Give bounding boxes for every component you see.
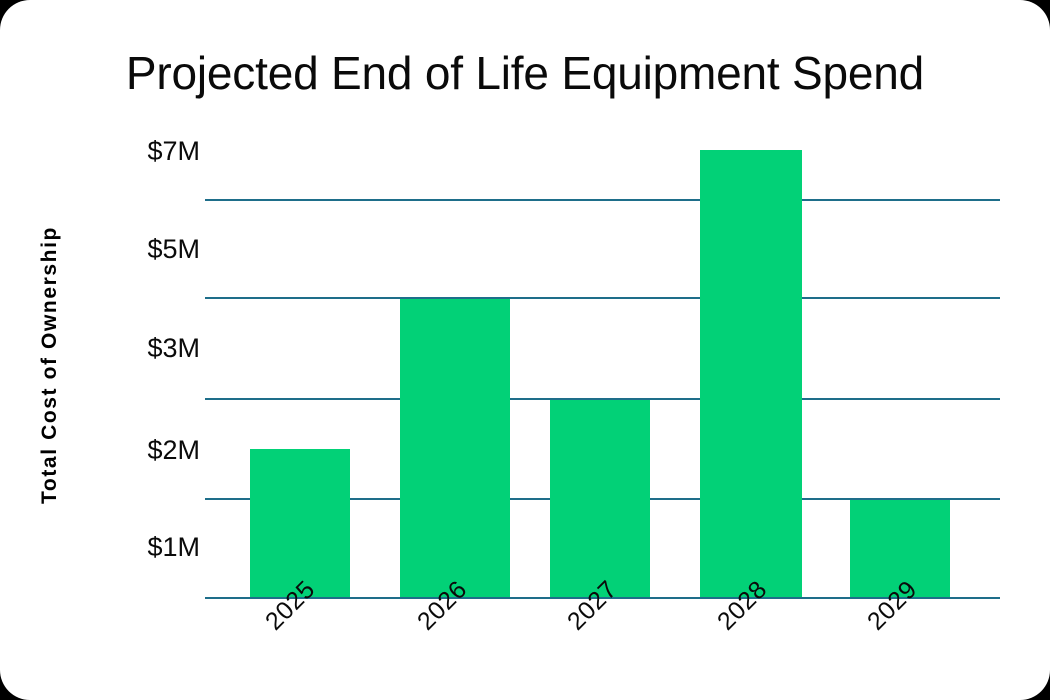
chart-card: Projected End of Life Equipment Spend To… [0,0,1050,700]
bar[interactable] [550,400,650,597]
plot-area: 20252026202720282029 [0,0,1050,700]
bar[interactable] [400,299,510,597]
gridline [205,297,1000,299]
bar[interactable] [700,150,802,597]
gridline [205,199,1000,201]
